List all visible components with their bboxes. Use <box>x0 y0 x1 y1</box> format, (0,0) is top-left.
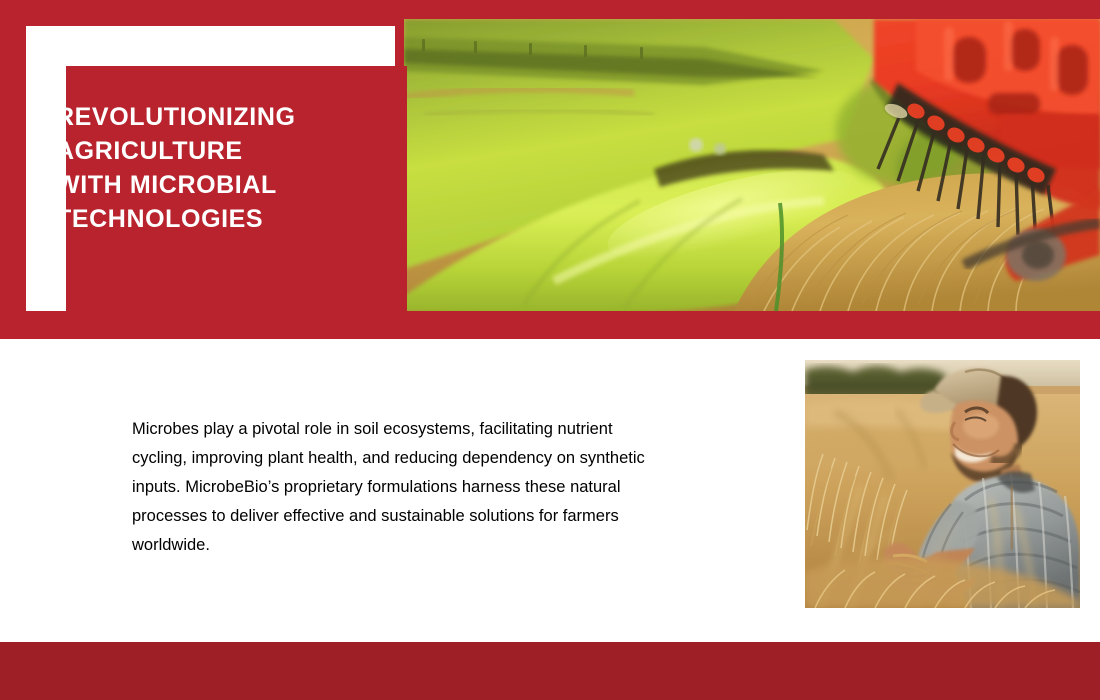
slide: REVOLUTIONIZING AGRICULTURE WITH MICROBI… <box>0 0 1100 700</box>
hero-image-artwork <box>404 19 1100 311</box>
slide-title: REVOLUTIONIZING AGRICULTURE WITH MICROBI… <box>56 100 376 236</box>
body-paragraph: Microbes play a pivotal role in soil eco… <box>132 415 652 560</box>
farmer-image-artwork <box>805 360 1080 608</box>
farmer-image <box>805 360 1080 608</box>
hero-image-harvester <box>404 19 1100 311</box>
bottom-bar <box>0 642 1100 700</box>
